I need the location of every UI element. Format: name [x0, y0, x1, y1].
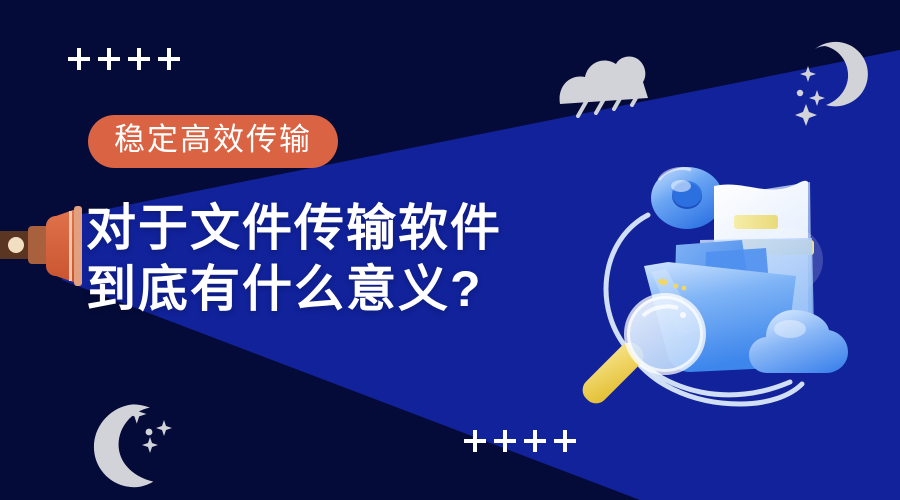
promo-banner: 稳定高效传输 对于文件传输软件 到底有什么意义?	[0, 0, 900, 500]
headline-line-2: 到底有什么意义?	[86, 259, 502, 320]
text-layer: 稳定高效传输 对于文件传输软件 到底有什么意义?	[0, 0, 900, 500]
page-title: 对于文件传输软件 到底有什么意义?	[86, 198, 502, 320]
status-badge: 稳定高效传输	[88, 115, 338, 168]
headline-line-1: 对于文件传输软件	[86, 198, 502, 259]
